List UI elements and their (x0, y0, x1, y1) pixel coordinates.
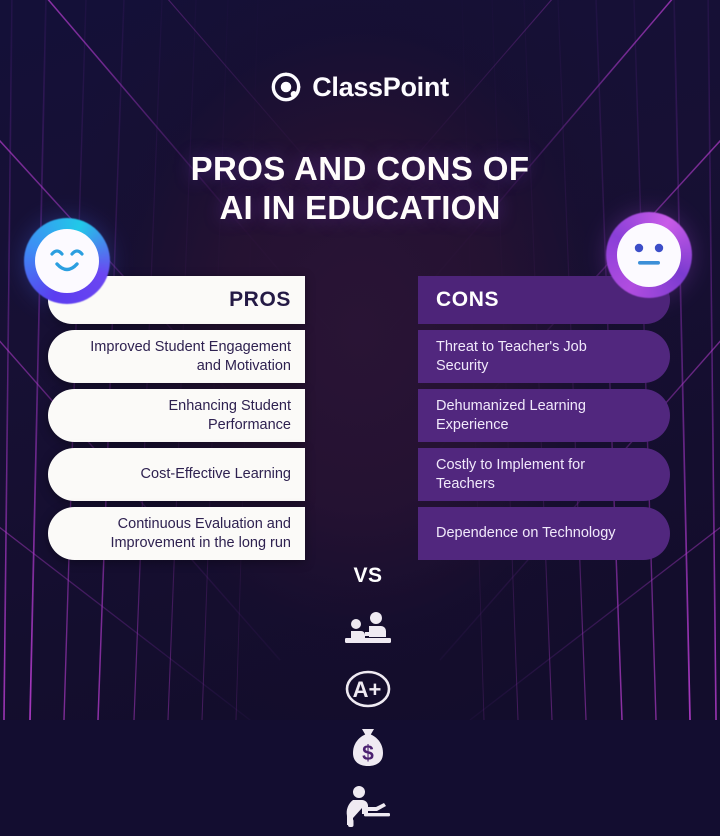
happy-face-icon (44, 243, 90, 279)
page-title: PROS AND CONS OF AI IN EDUCATION (0, 150, 720, 228)
brand-name: ClassPoint (312, 74, 449, 101)
pros-item[interactable]: Improved Student Engagement and Motivati… (48, 330, 305, 383)
center-divider: VS A+ (320, 552, 416, 836)
avatar-face (35, 229, 99, 293)
brand-logo: ClassPoint (0, 72, 720, 102)
cons-item[interactable]: Dehumanized Learning Experience (418, 389, 670, 442)
cons-item[interactable]: Threat to Teacher's Job Security (418, 330, 670, 383)
smiling-face-avatar (24, 218, 110, 304)
grade-a-plus-icon: A+ (320, 659, 416, 718)
neutral-face-avatar (606, 212, 692, 298)
cons-item[interactable]: Dependence on Technology (418, 507, 670, 560)
pros-item[interactable]: Enhancing Student Performance (48, 389, 305, 442)
avatar-face (617, 223, 681, 287)
title-line-2: AI IN EDUCATION (0, 189, 720, 228)
title-line-1: PROS AND CONS OF (0, 150, 720, 189)
cons-item[interactable]: Costly to Implement for Teachers (418, 448, 670, 501)
classpoint-logo-icon (271, 72, 301, 102)
svg-text:A+: A+ (353, 677, 382, 702)
pros-column: PROS Improved Student Engagement and Mot… (48, 276, 305, 566)
person-at-laptop-icon (320, 777, 416, 836)
teacher-helping-student-icon (320, 600, 416, 659)
vs-label: VS (320, 552, 416, 600)
pros-item[interactable]: Cost-Effective Learning (48, 448, 305, 501)
pros-item[interactable]: Continuous Evaluation and Improvement in… (48, 507, 305, 560)
comparison-columns: PROS Improved Student Engagement and Mot… (0, 276, 720, 576)
svg-text:$: $ (362, 742, 374, 765)
neutral-face-icon (626, 238, 672, 272)
cons-column: CONS Threat to Teacher's Job Security De… (418, 276, 670, 566)
money-bag-icon: $ (320, 718, 416, 777)
